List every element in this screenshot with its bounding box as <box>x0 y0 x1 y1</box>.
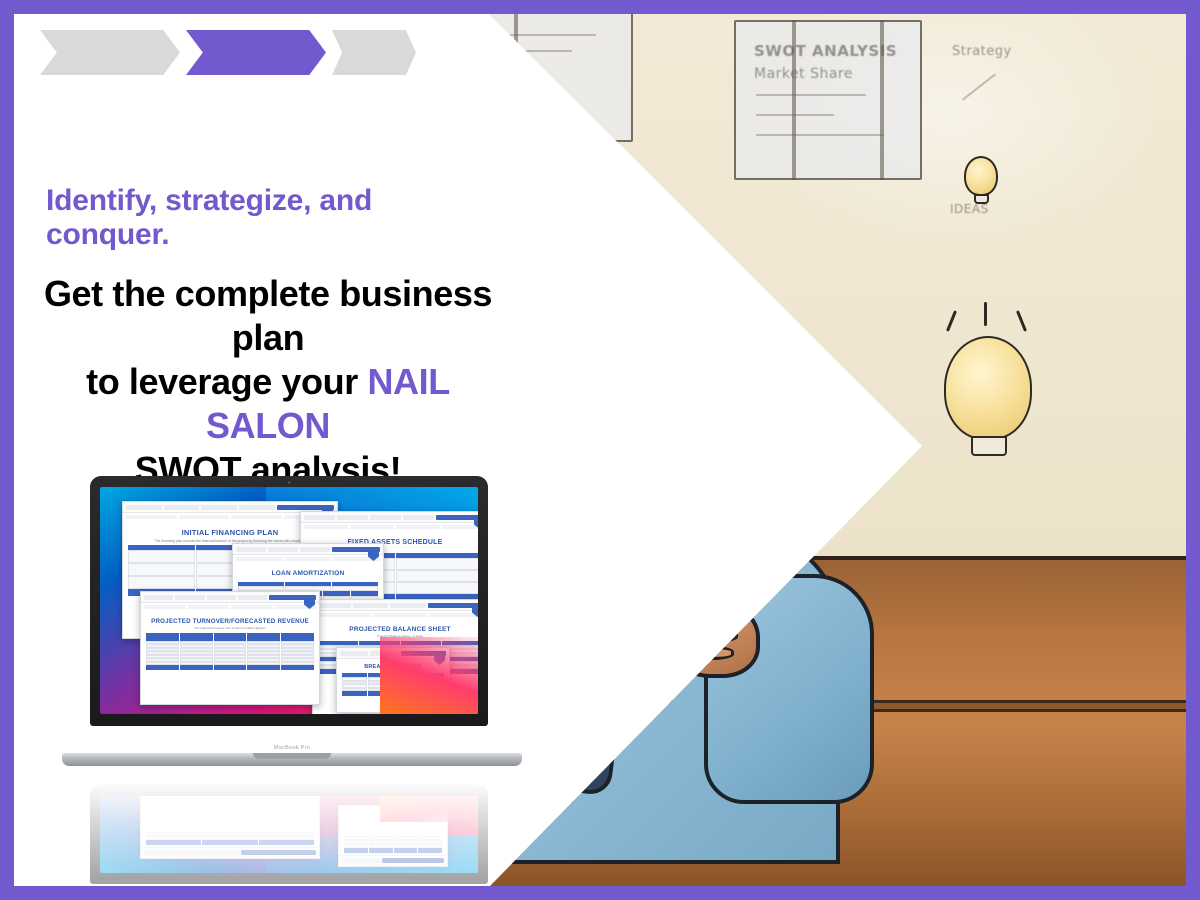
slide-frame: Analyze Business SALES PLAN GOALS <box>0 0 1200 900</box>
sketch-label-ideas: IDEAS <box>950 202 989 216</box>
step-chevron-2-active[interactable] <box>186 30 326 75</box>
spreadsheet-window[interactable]: BREAK EVEN POINT <box>336 647 450 713</box>
window-subtitle: Projected Balance Sheet – 3 Years <box>313 634 478 638</box>
necktie <box>564 560 608 604</box>
headline-line-1: Get the complete business plan <box>28 272 508 360</box>
window-subtitle: The projected revenue over 3 years by sa… <box>141 626 319 630</box>
content-panel: Identify, strategize, and conquer. Get t… <box>14 14 514 886</box>
nose <box>534 326 570 380</box>
slide-canvas: Analyze Business SALES PLAN GOALS <box>14 14 1186 886</box>
step-indicator <box>40 30 416 75</box>
window-title: LOAN AMORTIZATION <box>233 570 383 577</box>
laptop-base <box>62 753 522 766</box>
sketch-label-strategy: Strategy <box>952 44 1012 59</box>
window-title: PROJECTED BALANCE SHEET <box>313 626 478 633</box>
tagline: Identify, strategize, and conquer. <box>46 184 496 252</box>
laptop-screen: INITIAL FINANCING PLAN The financing pla… <box>100 487 478 714</box>
step-chevron-1[interactable] <box>40 30 180 75</box>
hand-on-chest <box>668 600 760 678</box>
laptop-lid: INITIAL FINANCING PLAN The financing pla… <box>90 476 488 726</box>
window-title: PROJECTED TURNOVER/FORECASTED REVENUE <box>141 618 319 625</box>
laptop-model-label: MacBook Pro <box>274 745 310 751</box>
mouth <box>528 400 614 440</box>
laptop-reflection <box>62 772 522 884</box>
sketch-label-market-share: Market Share <box>754 66 853 82</box>
headline: Get the complete business plan to levera… <box>28 272 508 492</box>
sketch-label-swot: SWOT ANALYSIS <box>754 42 897 60</box>
shield-icon <box>434 651 445 665</box>
step-chevron-3[interactable] <box>332 30 416 75</box>
laptop-mockup: INITIAL FINANCING PLAN The financing pla… <box>62 464 522 884</box>
headline-line-2: to leverage your NAIL SALON <box>28 360 508 448</box>
spreadsheet-window[interactable]: PROJECTED TURNOVER/FORECASTED REVENUE Th… <box>140 591 320 705</box>
headline-line-2-prefix: to leverage your <box>86 361 367 402</box>
webcam-icon <box>288 481 291 484</box>
arm-right <box>704 574 874 804</box>
window-title: BREAK EVEN POINT <box>337 664 449 670</box>
